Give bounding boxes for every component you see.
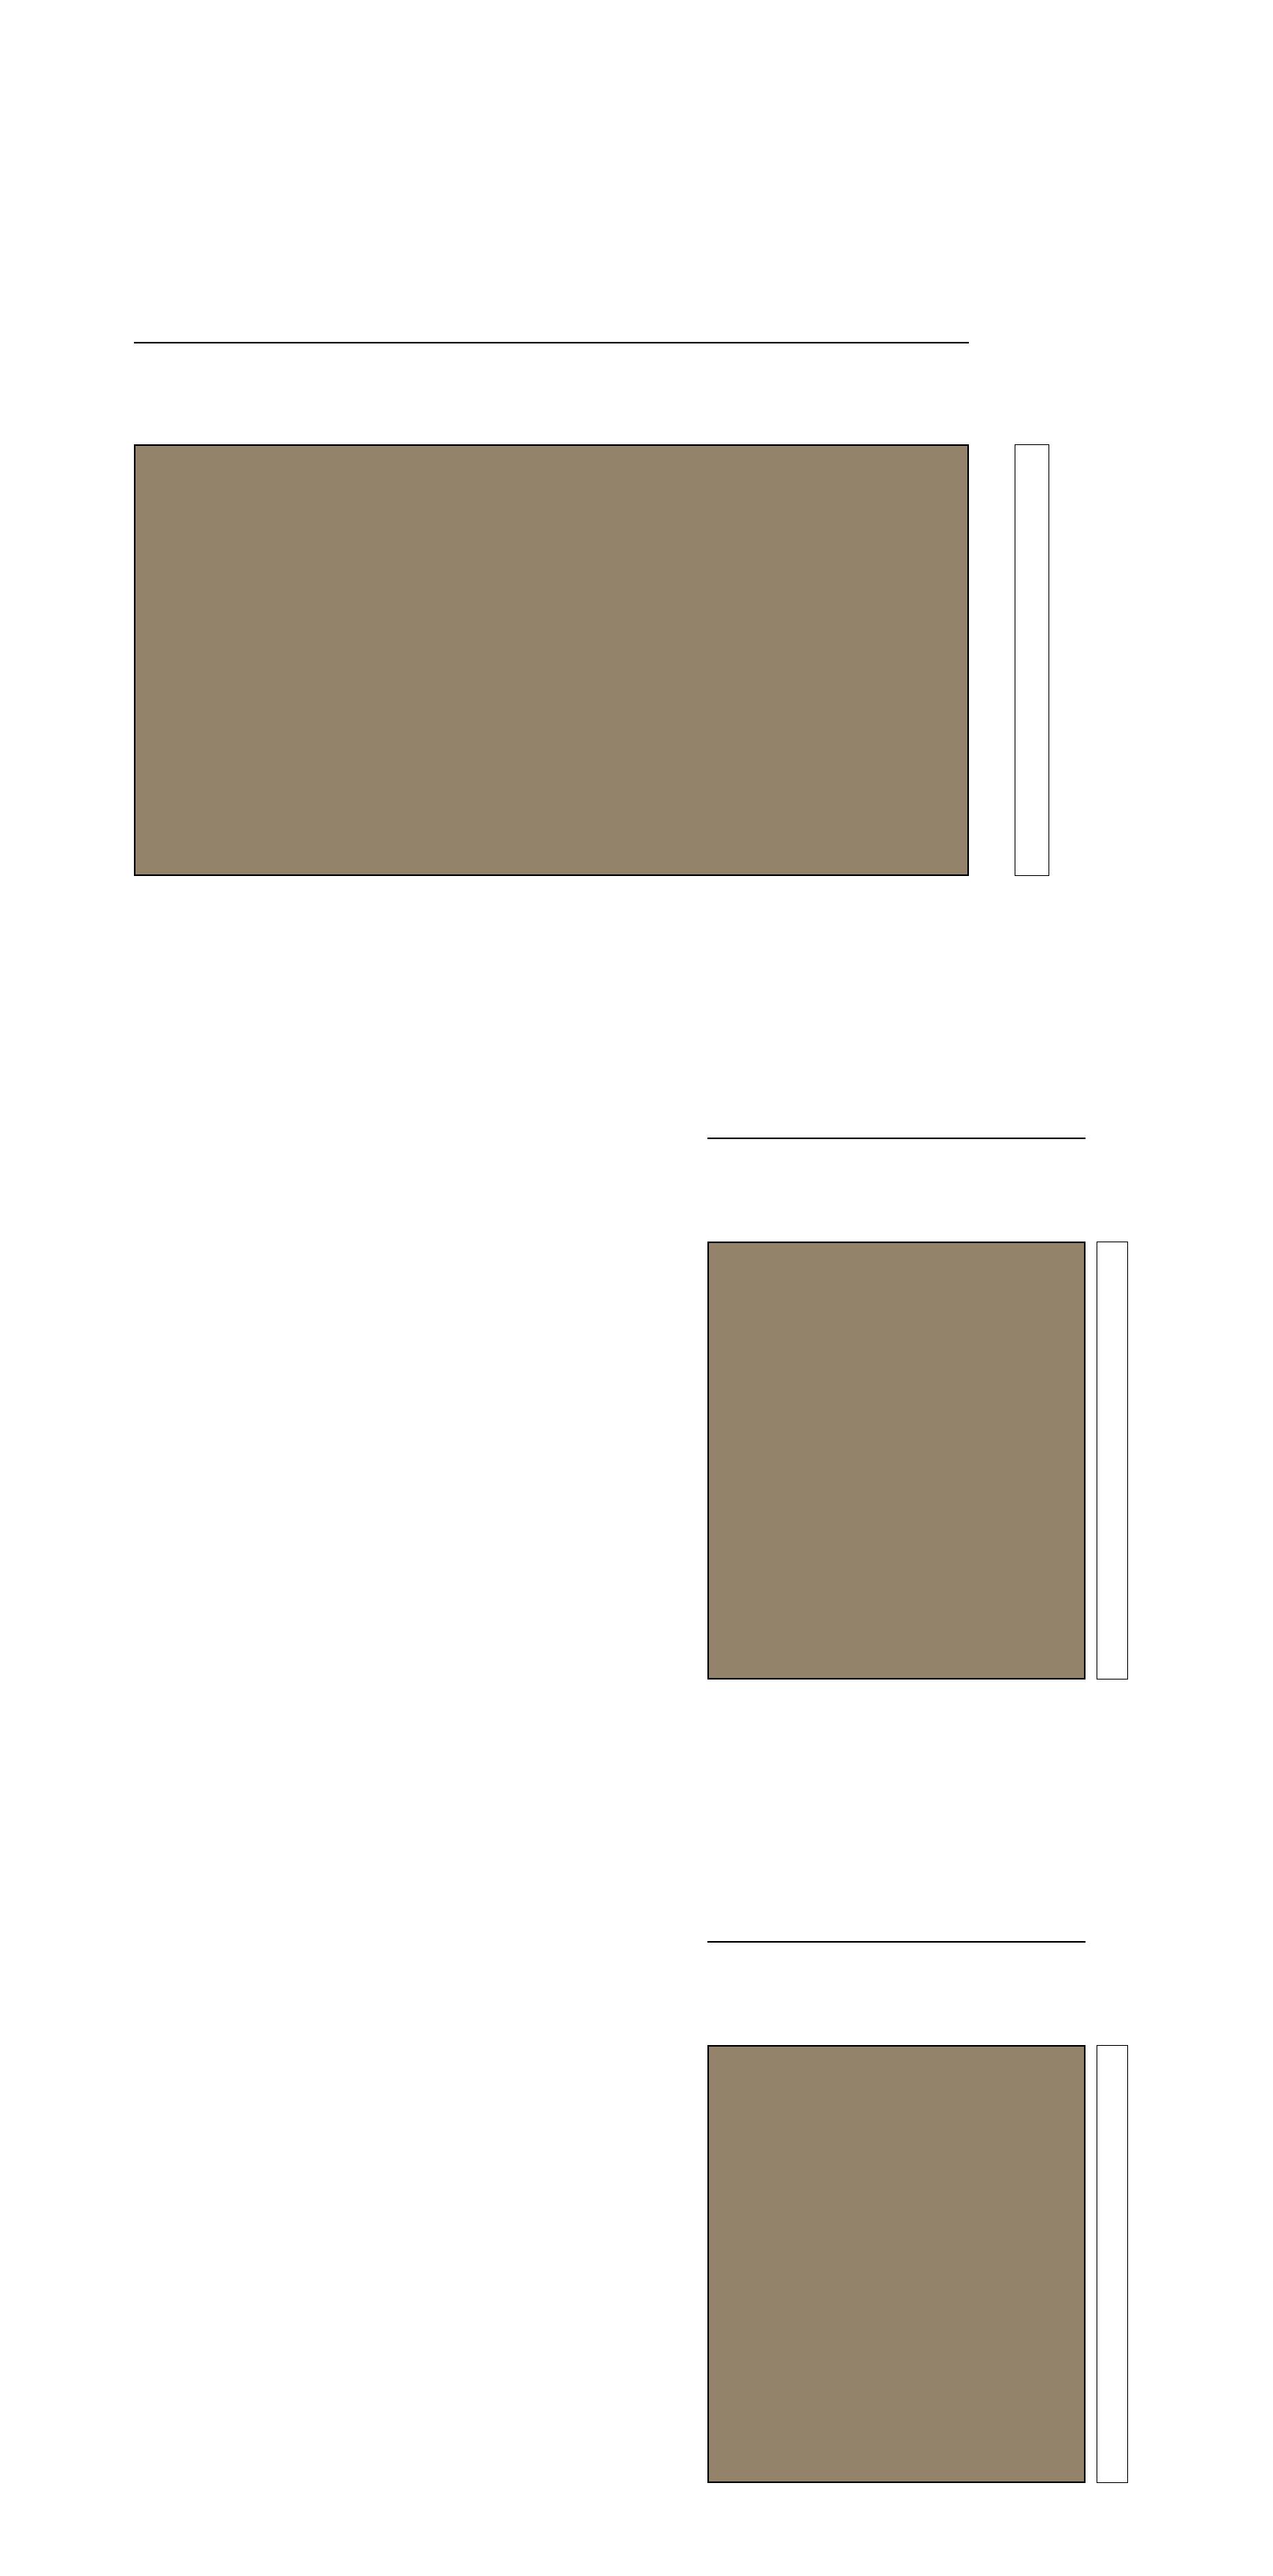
latitude-axis-rule bbox=[707, 1138, 1086, 1139]
panel-sose-axes[interactable] bbox=[707, 1242, 1086, 1680]
latitude-tick-labels bbox=[134, 310, 969, 331]
panel-difference-colorbar[interactable] bbox=[1097, 2045, 1270, 2483]
longitude-tick-labels bbox=[134, 394, 969, 414]
panel-model-longitude-axis bbox=[134, 370, 969, 432]
figure-canvas bbox=[0, 0, 1273, 2576]
panel-difference-field bbox=[709, 2047, 1084, 2481]
panel-sose-colorbar[interactable] bbox=[1097, 1242, 1270, 1680]
latitude-axis-rule bbox=[707, 1941, 1086, 1943]
panel-difference-xtick-labels bbox=[707, 2491, 1086, 2511]
panel-model-field bbox=[135, 446, 967, 874]
panel-sose-field bbox=[709, 1243, 1084, 1678]
panel-model-colorbar[interactable] bbox=[1015, 444, 1188, 876]
panel-model-ytick-labels bbox=[8, 444, 126, 876]
panel-model-xtick-labels bbox=[134, 884, 969, 904]
panel-sose-ytick-labels bbox=[581, 1242, 700, 1680]
panel-sose-xtick-labels bbox=[707, 1687, 1086, 1708]
panel-sose-latitude-axis bbox=[707, 1086, 1086, 1147]
colorbar-gradient bbox=[1097, 2045, 1128, 2483]
colorbar-gradient bbox=[1015, 444, 1049, 876]
latitude-tick-labels bbox=[707, 1108, 1086, 1128]
panel-sose-longitude-axis bbox=[707, 1164, 1086, 1226]
panel-difference-latitude-axis bbox=[707, 1889, 1086, 1951]
latitude-tick-labels bbox=[707, 1911, 1086, 1932]
panel-model-latitude-axis bbox=[134, 287, 969, 348]
panel-model bbox=[0, 236, 1273, 945]
panel-difference-ytick-labels bbox=[581, 2045, 700, 2483]
longitude-tick-labels bbox=[707, 1990, 1086, 2010]
panel-difference-axes[interactable] bbox=[707, 2045, 1086, 2483]
panel-model-axes[interactable] bbox=[134, 444, 969, 876]
colorbar-gradient bbox=[1097, 1242, 1128, 1680]
latitude-axis-rule bbox=[134, 342, 969, 343]
panel-sose bbox=[0, 1040, 1273, 1749]
panel-difference bbox=[0, 1843, 1273, 2552]
longitude-tick-labels bbox=[707, 1186, 1086, 1207]
panel-difference-longitude-axis bbox=[707, 1968, 1086, 2029]
